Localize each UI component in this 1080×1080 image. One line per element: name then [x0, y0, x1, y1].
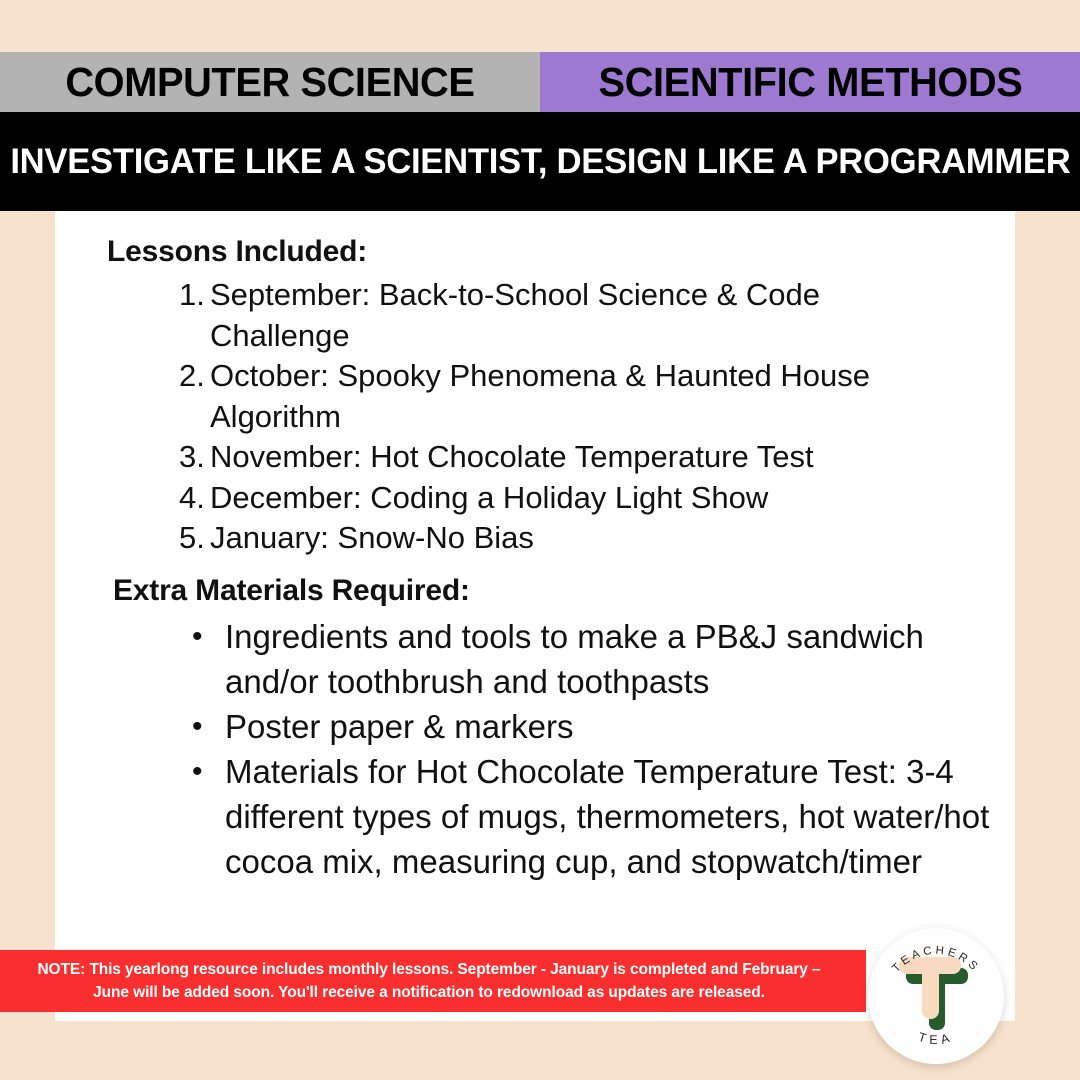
list-item: December: Coding a Holiday Light Show: [179, 478, 910, 519]
list-item: Materials for Hot Chocolate Temperature …: [190, 749, 1015, 884]
content-card: Lessons Included: September: Back-to-Sch…: [55, 211, 1015, 1021]
list-item: Poster paper & markers: [190, 704, 1015, 749]
list-item: October: Spooky Phenomena & Haunted Hous…: [179, 356, 910, 437]
list-item: September: Back-to-School Science & Code…: [179, 275, 910, 356]
headline-banner: INVESTIGATE LIKE A SCIENTIST, DESIGN LIK…: [0, 112, 1080, 211]
list-item: January: Snow-No Bias: [179, 518, 910, 559]
category-left-label: COMPUTER SCIENCE: [65, 59, 474, 106]
category-tab-computer-science: COMPUTER SCIENCE: [0, 52, 540, 112]
list-item: Ingredients and tools to make a PB&J san…: [190, 614, 1015, 704]
logo-svg: TEACHERS TEA: [868, 928, 1004, 1064]
category-right-label: SCIENTIFIC METHODS: [598, 59, 1022, 106]
logo-monogram-peach: [899, 957, 961, 1019]
lessons-heading: Lessons Included:: [55, 235, 1015, 269]
materials-heading: Extra Materials Required:: [55, 574, 1015, 608]
materials-list: Ingredients and tools to make a PB&J san…: [55, 614, 1015, 884]
note-banner: NOTE: This yearlong resource includes mo…: [0, 950, 866, 1012]
teachers-tea-logo: TEACHERS TEA: [868, 928, 1004, 1064]
category-tab-scientific-methods: SCIENTIFIC METHODS: [540, 52, 1080, 112]
logo-bottom-text: TEA: [917, 1030, 956, 1047]
content-inner: Lessons Included: September: Back-to-Sch…: [55, 235, 1015, 884]
note-text: NOTE: This yearlong resource includes mo…: [18, 958, 840, 1004]
category-bar: COMPUTER SCIENCE SCIENTIFIC METHODS: [0, 52, 1080, 112]
headline-text: INVESTIGATE LIKE A SCIENTIST, DESIGN LIK…: [10, 142, 1070, 182]
lessons-list: September: Back-to-School Science & Code…: [55, 275, 1015, 559]
list-item: November: Hot Chocolate Temperature Test: [179, 437, 910, 478]
